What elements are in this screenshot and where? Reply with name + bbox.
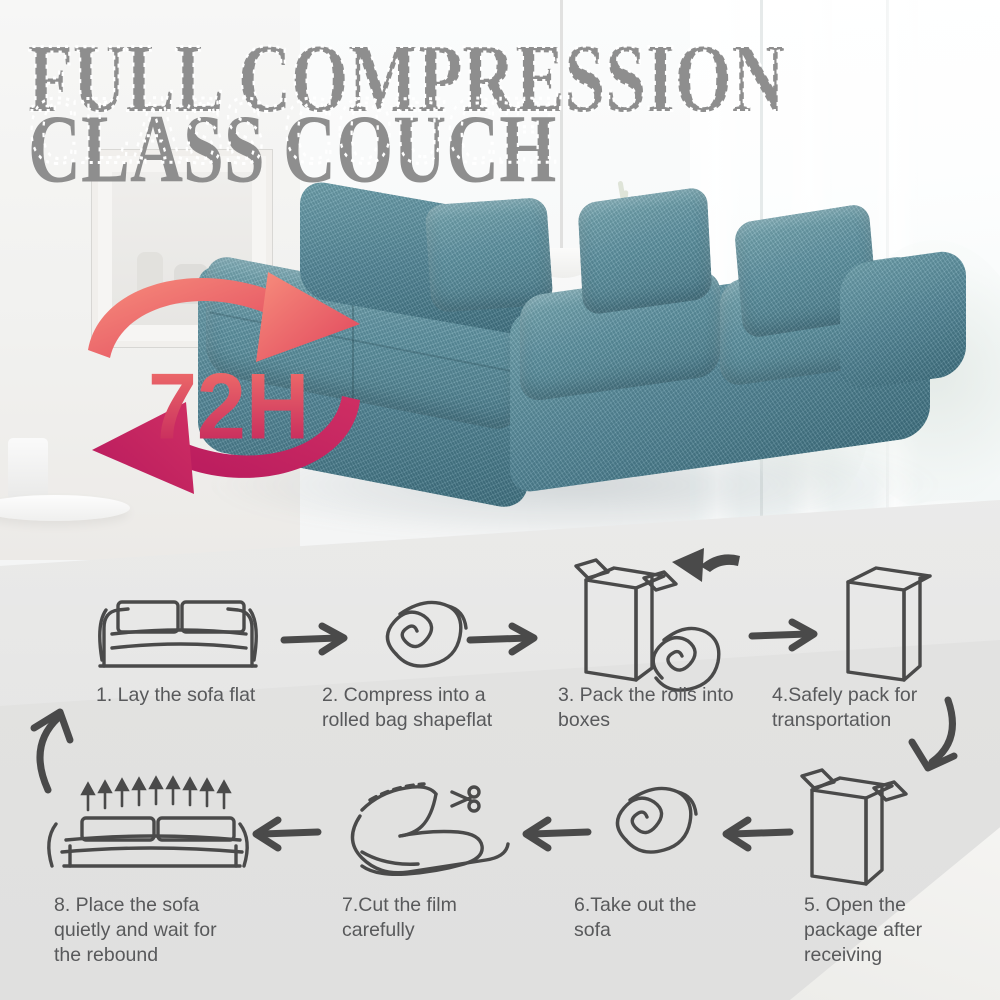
title-line-2-stitch: CLASS COUCH [28,76,556,184]
step-4-caption: 4.Safely pack for transportation [772,683,950,733]
refresh-arrowhead-top [256,272,360,362]
infographic-canvas: FULL COMPRESSIONFULL COMPRESSION CLASS C… [0,0,1000,1000]
title-text-svg: FULL COMPRESSIONFULL COMPRESSION CLASS C… [28,22,928,192]
72h-compression-badge: 72H [60,250,400,530]
step-5-caption: 5. Open the package after receiving [804,893,954,968]
step-1-caption: 1. Lay the sofa flat [96,683,296,708]
page-title: FULL COMPRESSIONFULL COMPRESSION CLASS C… [28,22,928,192]
step-2-caption: 2. Compress into a rolled bag shapeflat [322,683,514,733]
step-7-caption: 7.Cut the film carefully [342,893,512,943]
step-8-caption: 8. Place the sofa quietly and wait for t… [54,893,242,968]
badge-label: 72H [148,355,309,459]
step-3-caption: 3. Pack the rolls into boxes [558,683,738,733]
step-6-caption: 6.Take out the sofa [574,893,729,943]
